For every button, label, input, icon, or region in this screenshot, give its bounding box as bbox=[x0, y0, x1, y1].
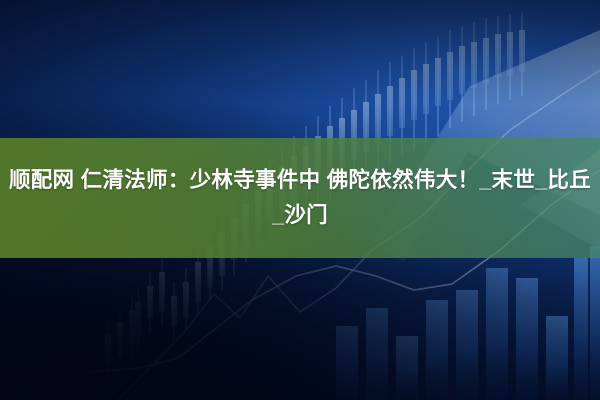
page-title: 顺配网 仁清法师：少林寺事件中 佛陀依然伟大！_末世_比丘_沙门 bbox=[6, 163, 594, 233]
thumbnail-image: 顺配网 仁清法师：少林寺事件中 佛陀依然伟大！_末世_比丘_沙门 bbox=[0, 0, 600, 400]
title-banner: 顺配网 仁清法师：少林寺事件中 佛陀依然伟大！_末世_比丘_沙门 bbox=[0, 138, 600, 258]
